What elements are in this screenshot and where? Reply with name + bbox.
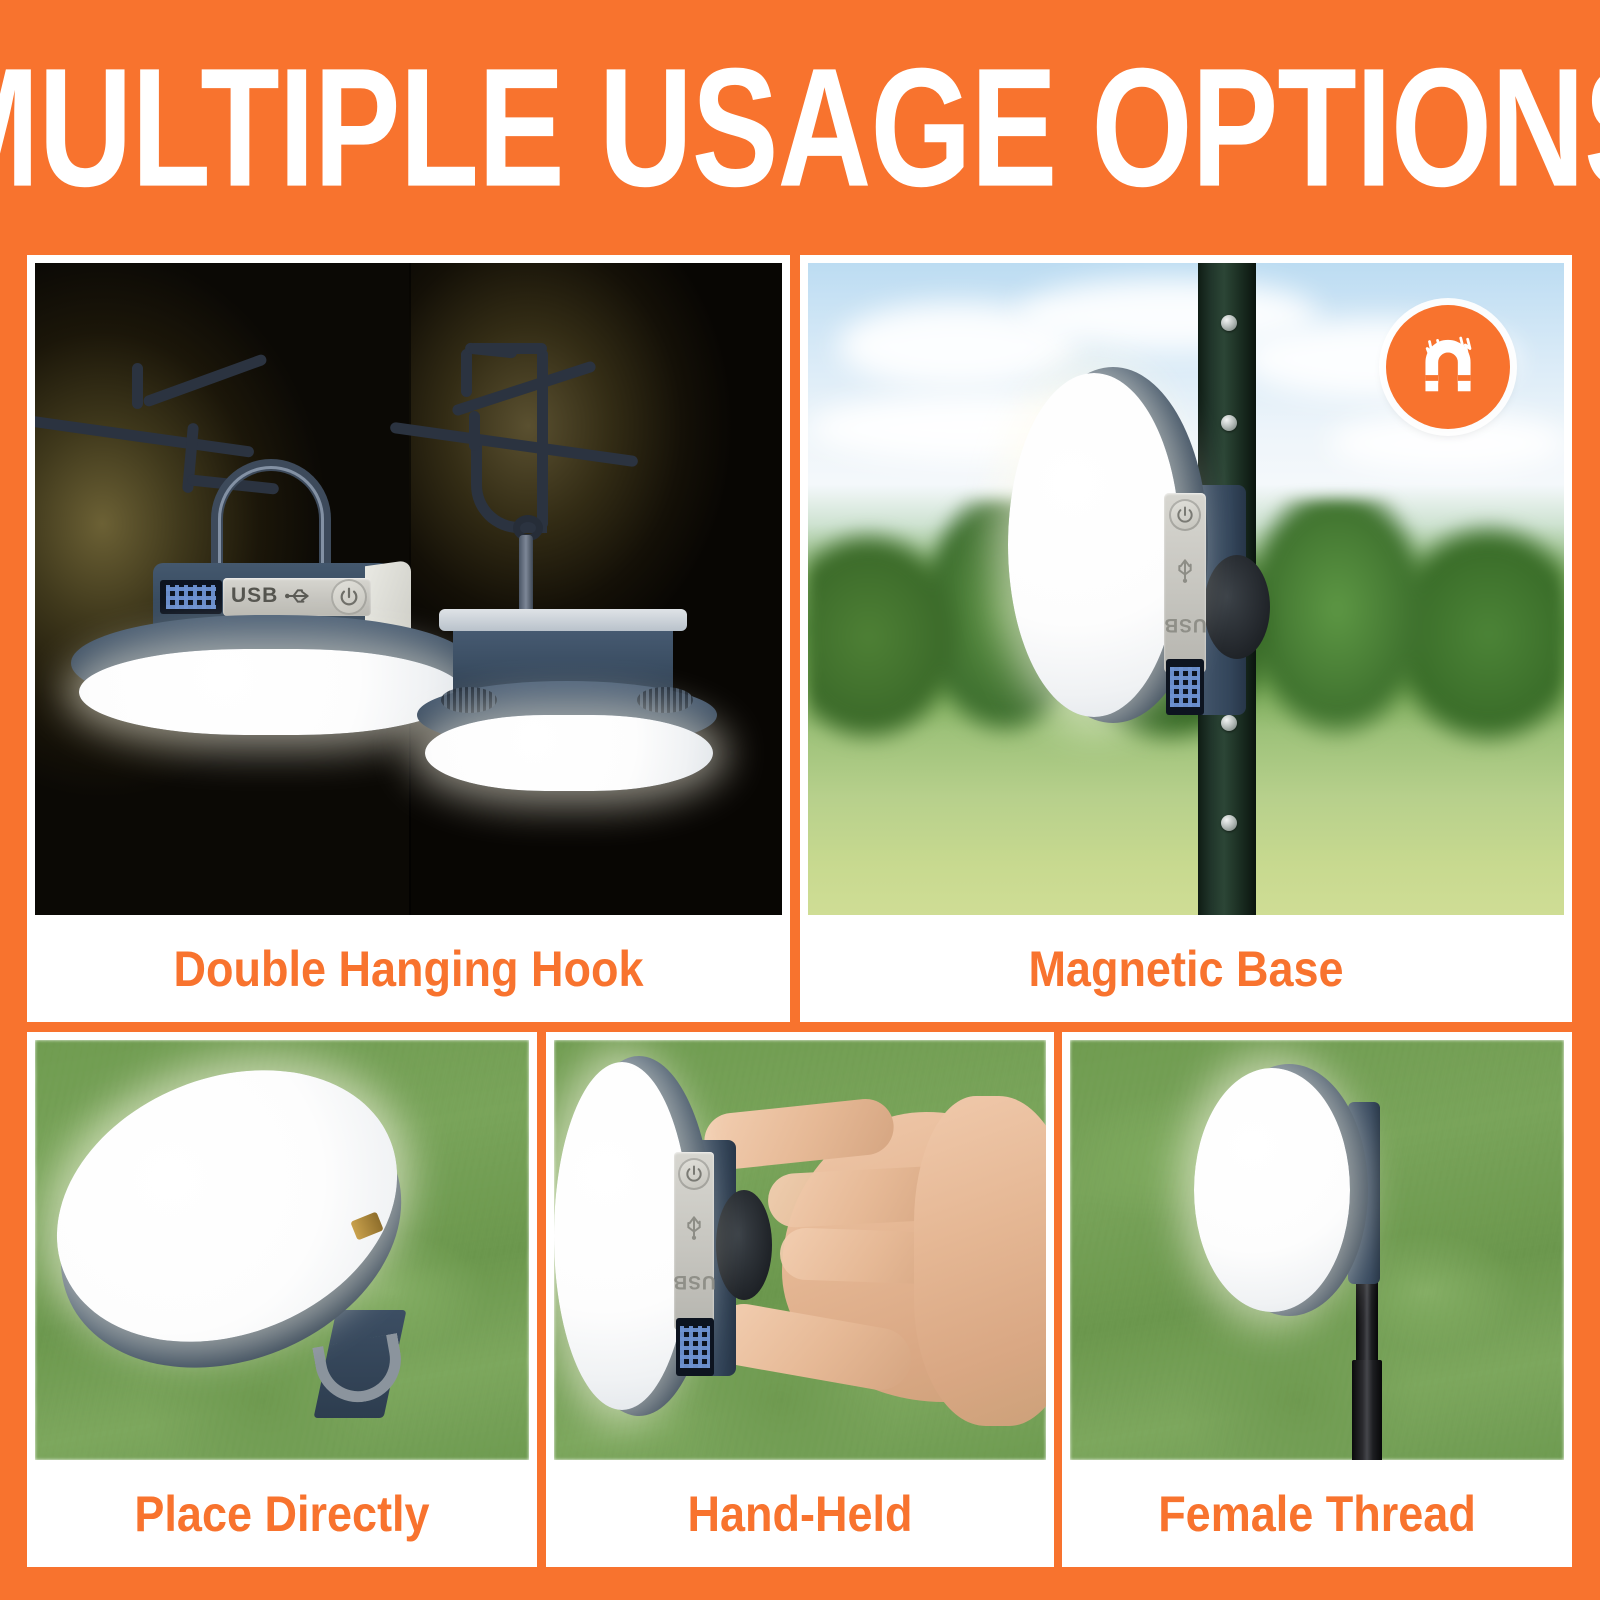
panel-place-directly: Place Directly [27,1032,537,1567]
bail-highlight [218,466,324,566]
post-bolt [1221,715,1237,731]
usb-label: USB [1152,613,1218,635]
power-button-icon[interactable] [1169,499,1201,531]
tripod-pole-lower [1352,1360,1382,1460]
lamp-lens [1194,1068,1350,1312]
header-banner: MULTIPLE USAGE OPTIONS [0,0,1600,255]
caption-place-directly: Place Directly [27,1460,537,1567]
power-button-icon[interactable] [678,1158,710,1190]
photo-place-directly [35,1040,529,1460]
panel-magnetic-base: USB Magnetic Base [800,255,1572,1022]
magnet-icon [1386,305,1510,429]
photo-female-thread [1070,1040,1564,1460]
magnet-glyph [1411,330,1485,404]
power-glyph [678,1158,710,1190]
lamp-lens [554,1062,690,1410]
vent-grille-right [637,687,693,713]
lamp-hanging-hook [409,263,783,915]
usb-icon [1175,549,1195,583]
caption-text: Hand-Held [688,1484,913,1542]
caption-double-hanging-hook: Double Hanging Hook [27,915,790,1022]
caption-hand-held: Hand-Held [546,1460,1054,1567]
battery-display [1166,659,1204,715]
caption-female-thread: Female Thread [1062,1460,1572,1567]
caption-magnetic-base: Magnetic Base [800,915,1572,1022]
control-plate: USB [1164,493,1206,673]
control-plate: USB [674,1152,714,1330]
lamp-top-cap [439,609,687,631]
photo-double-hanging-hook: USB [35,263,782,915]
usb-icon [684,1206,704,1240]
panel-hand-held: USB Hand-Held [546,1032,1054,1567]
vent-grille-left [441,687,497,713]
battery-display [160,580,222,614]
power-glyph [1169,499,1201,531]
hook-tip [469,411,480,451]
lamp-lens [425,715,713,791]
magnet-puck [1204,555,1270,659]
post-bolt [1221,415,1237,431]
lamp-lens [79,649,463,735]
caption-text: Double Hanging Hook [174,939,644,997]
caption-text: Female Thread [1158,1484,1476,1542]
page-title: MULTIPLE USAGE OPTIONS [0,43,1600,212]
photo-hand-held: USB [554,1040,1046,1460]
power-glyph [331,579,367,615]
panel-female-thread: Female Thread [1062,1032,1572,1567]
post-bolt [1221,815,1237,831]
usb-label: USB [231,584,278,608]
usb-icon [285,586,319,606]
hook-top-arm [469,343,547,354]
battery-display [676,1318,714,1376]
hand-back [914,1096,1046,1426]
post-bolt [1221,315,1237,331]
photo-magnetic-base: USB [808,263,1564,915]
lamp-lens [1008,373,1180,717]
caption-text: Place Directly [134,1484,429,1542]
power-button-icon[interactable] [331,579,367,615]
usb-label: USB [661,1270,727,1292]
panel-double-hanging-hook: USB [27,255,790,1022]
caption-text: Magnetic Base [1028,939,1343,997]
